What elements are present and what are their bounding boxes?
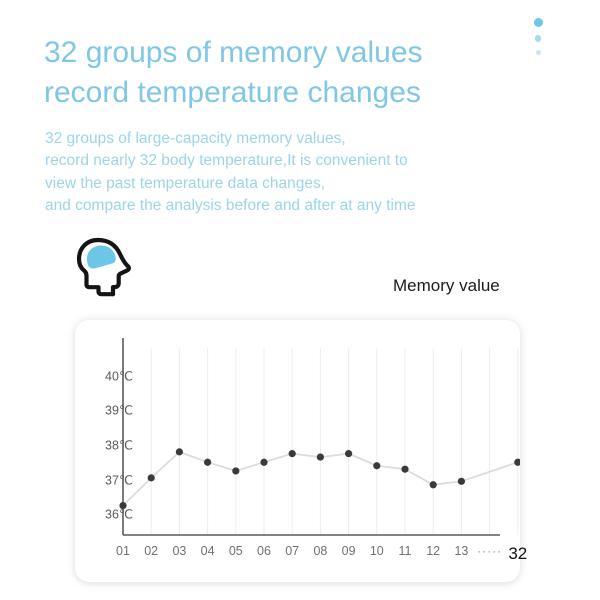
x-axis-tick: 08: [313, 544, 327, 558]
chart-plot-area: 40℃39℃38℃37℃36℃ 010203040506070809101112…: [75, 320, 520, 582]
x-axis-tick-labels: 01020304050607080910111213·····32: [75, 544, 520, 570]
y-axis-tick: 40℃: [105, 368, 133, 383]
y-axis-tick-labels: 40℃39℃38℃37℃36℃: [87, 320, 133, 582]
data-point: [148, 474, 155, 481]
data-point: [345, 450, 352, 457]
data-point: [232, 467, 239, 474]
x-axis-tick: 13: [454, 544, 468, 558]
head-brain-icon: [76, 236, 134, 298]
memory-chart-card: 40℃39℃38℃37℃36℃ 010203040506070809101112…: [75, 320, 520, 582]
data-point: [430, 481, 437, 488]
dot-large-icon: [534, 18, 543, 27]
x-axis-tick: 12: [426, 544, 440, 558]
x-axis-tick: 11: [399, 544, 412, 558]
page-title: 32 groups of memory values record temper…: [44, 33, 544, 112]
data-point: [317, 453, 324, 460]
data-point: [401, 466, 408, 473]
data-point: [373, 462, 380, 469]
y-axis-tick: 37℃: [105, 472, 133, 487]
x-axis-tick: 32: [508, 544, 527, 564]
y-axis-tick: 38℃: [105, 437, 133, 452]
x-axis-tick: 09: [342, 544, 356, 558]
data-point: [458, 478, 465, 485]
x-axis-tick: 02: [144, 544, 158, 558]
data-point: [289, 450, 296, 457]
x-axis-tick: 04: [201, 544, 215, 558]
data-point: [514, 459, 520, 466]
y-axis-tick: 39℃: [105, 403, 133, 418]
x-axis-tick: ·····: [477, 544, 502, 558]
x-axis-tick: 07: [285, 544, 299, 558]
x-axis-tick: 10: [370, 544, 384, 558]
x-axis-tick: 05: [229, 544, 243, 558]
memory-value-caption: Memory value: [393, 276, 500, 296]
y-axis-tick: 36℃: [105, 507, 133, 522]
x-axis-tick: 01: [116, 544, 130, 558]
x-axis-tick: 03: [172, 544, 186, 558]
temperature-line-chart: [75, 320, 520, 582]
page-subtitle: 32 groups of large-capacity memory value…: [45, 128, 565, 217]
data-point: [204, 459, 211, 466]
data-point: [176, 448, 183, 455]
data-point: [260, 459, 267, 466]
x-axis-tick: 06: [257, 544, 271, 558]
